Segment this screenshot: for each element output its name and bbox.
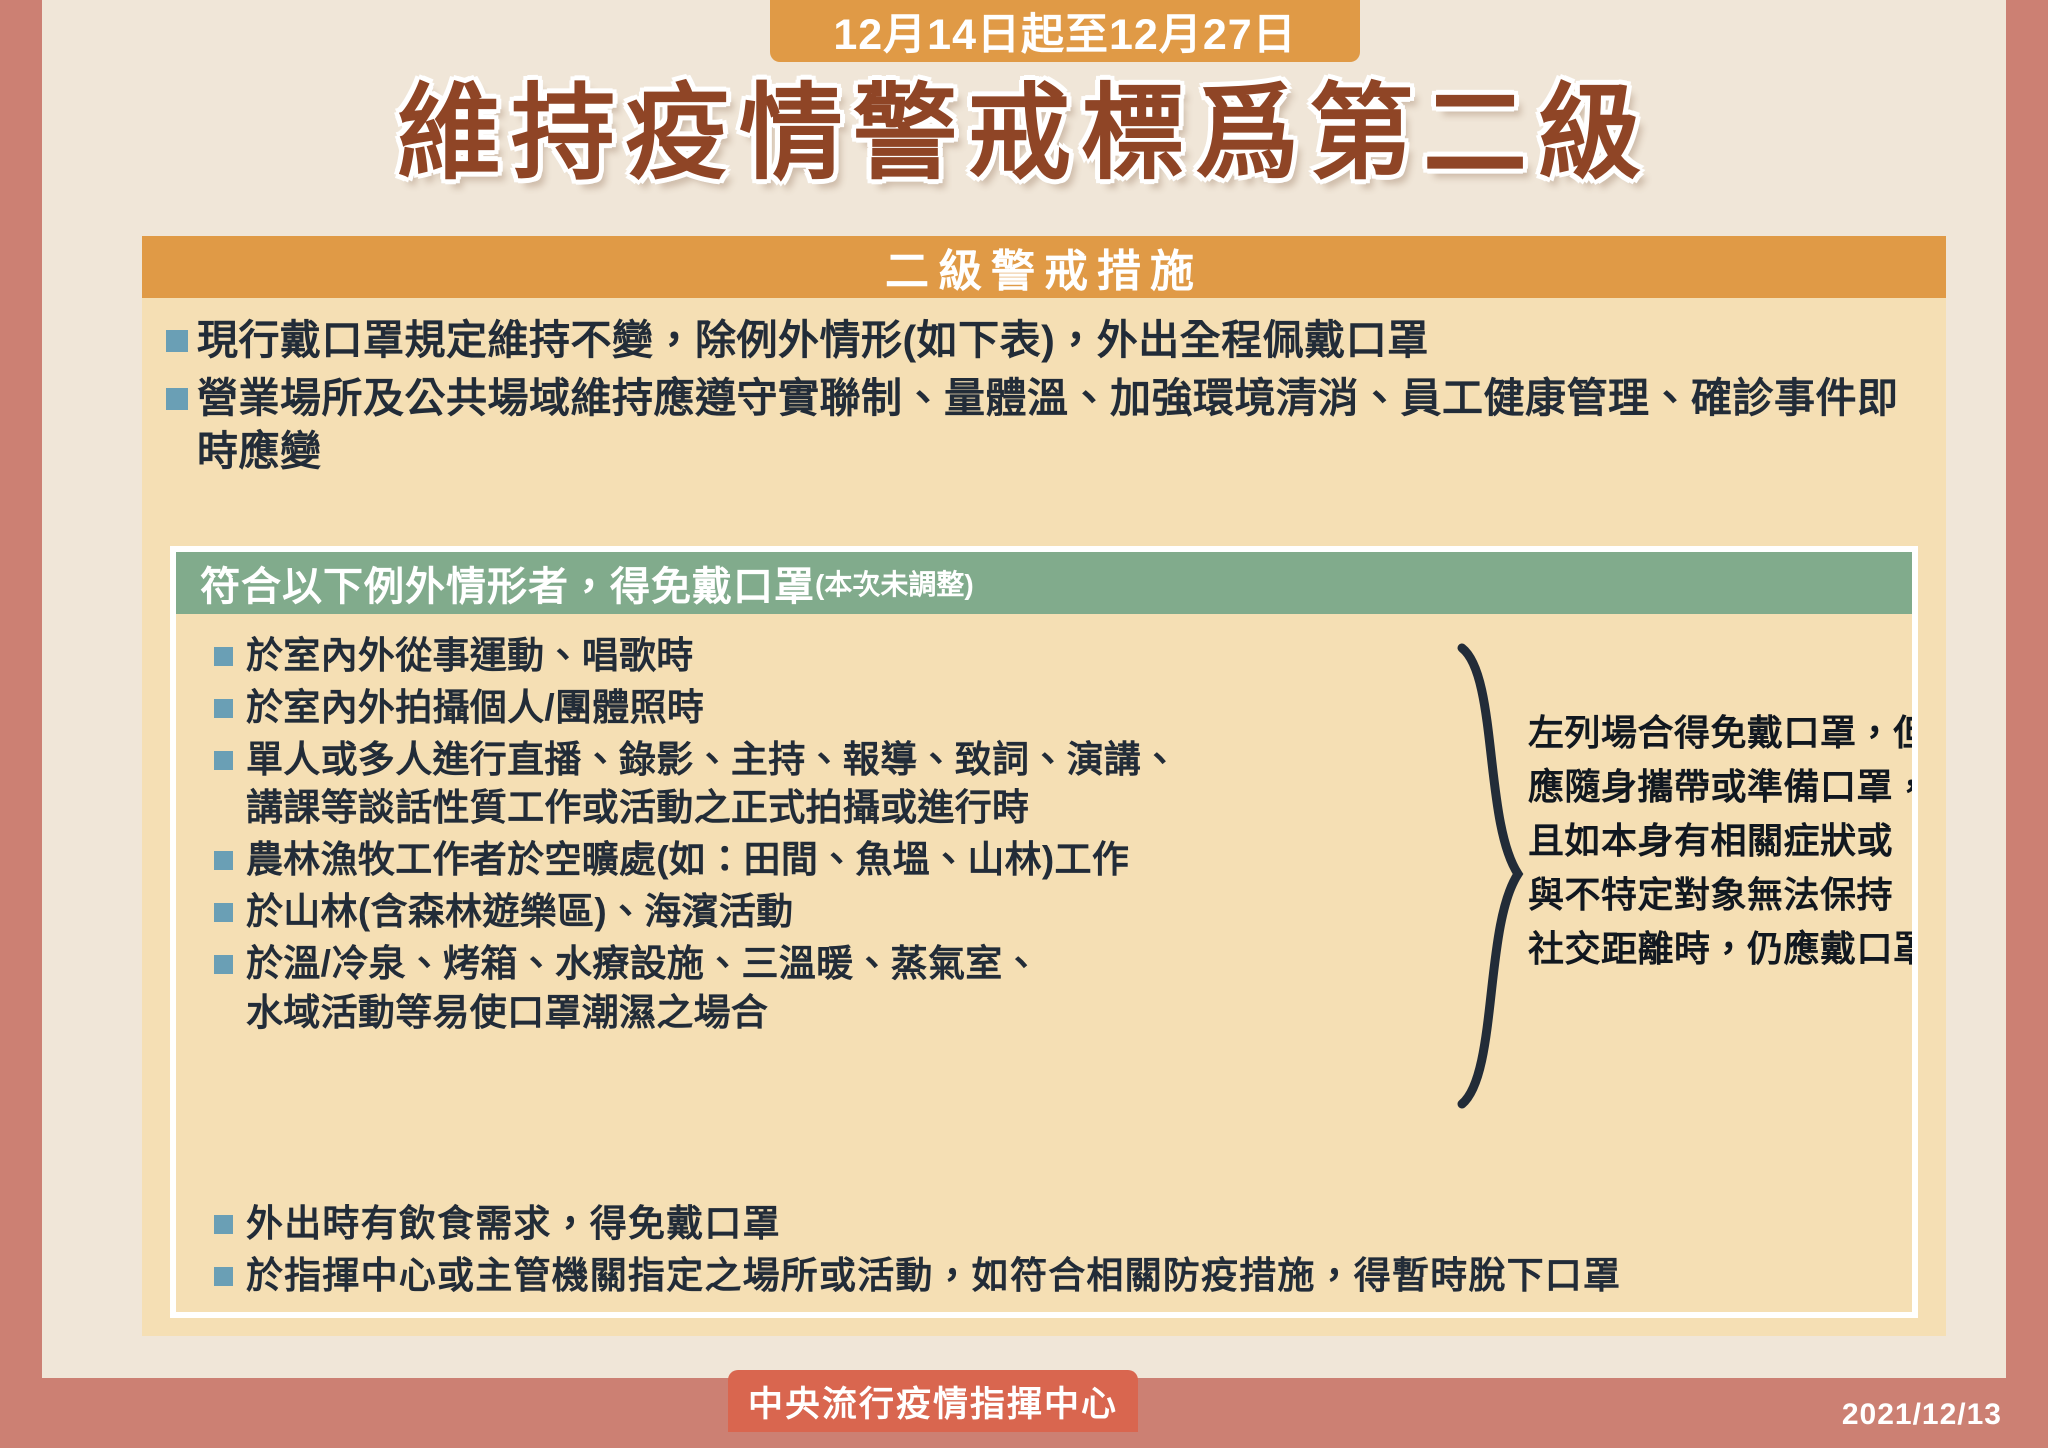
list-item: 外出時有飲食需求，得免戴口罩 xyxy=(214,1200,1912,1249)
square-bullet-icon xyxy=(214,1215,233,1234)
section-header-level2-measures: 二級警戒措施 xyxy=(142,236,1946,298)
exception-card-body: 於室內外從事運動、唱歌時 於室內外拍攝個人/團體照時 單人或多人進行直播、錄影、… xyxy=(176,614,1912,1312)
list-item: 單人或多人進行直播、錄影、主持、報導、致詞、演講、講課等談話性質工作或活動之正式… xyxy=(214,736,1444,834)
list-item-line: 單人或多人進行直播、錄影、主持、報導、致詞、演講、 xyxy=(246,739,1179,780)
list-item-label: 單人或多人進行直播、錄影、主持、報導、致詞、演講、講課等談話性質工作或活動之正式… xyxy=(246,736,1179,834)
list-item-label: 於溫/冷泉、烤箱、水療設施、三溫暖、蒸氣室、水域活動等易使口罩潮濕之場合 xyxy=(246,940,1040,1038)
list-item: 於室內外拍攝個人/團體照時 xyxy=(214,684,1444,733)
list-item-line: 水域活動等易使口罩潮濕之場合 xyxy=(246,992,768,1033)
square-bullet-icon xyxy=(214,903,233,922)
square-bullet-icon xyxy=(214,955,233,974)
exception-tail-list: 外出時有飲食需求，得免戴口罩 於指揮中心或主管機關指定之場所或活動，如符合相關防… xyxy=(214,1200,1912,1304)
note-line: 社交距離時，仍應戴口罩 xyxy=(1528,922,1912,976)
square-bullet-icon xyxy=(214,851,233,870)
square-bullet-icon xyxy=(214,647,233,666)
list-item: 營業場所及公共場域維持應遵守實聯制、量體溫、加強環境清消、員工健康管理、確診事件… xyxy=(166,372,1928,477)
footer: 中央流行疫情指揮中心 2021/12/13 xyxy=(0,1378,2048,1448)
list-item: 農林漁牧工作者於空曠處(如：田間、魚塭、山林)工作 xyxy=(214,836,1444,885)
list-item-label: 於指揮中心或主管機關指定之場所或活動，如符合相關防疫措施，得暫時脫下口罩 xyxy=(246,1252,1621,1301)
list-item: 於指揮中心或主管機關指定之場所或活動，如符合相關防疫措施，得暫時脫下口罩 xyxy=(214,1252,1912,1301)
list-item-label: 於室內外從事運動、唱歌時 xyxy=(246,632,694,681)
note-line: 應隨身攜帶或準備口罩， xyxy=(1528,760,1912,814)
list-item-label: 農林漁牧工作者於空曠處(如：田間、魚塭、山林)工作 xyxy=(246,836,1129,885)
exception-header-main: 符合以下例外情形者，得免戴口罩 xyxy=(200,554,815,612)
list-item-label: 營業場所及公共場域維持應遵守實聯制、量體溫、加強環境清消、員工健康管理、確診事件… xyxy=(197,372,1928,477)
date-range-banner: 12月14日起至12月27日 xyxy=(770,0,1360,62)
page-title-text: 維持疫情警戒標爲第二級 xyxy=(397,48,1651,199)
list-item-line: 講課等談話性質工作或活動之正式拍攝或進行時 xyxy=(246,787,1029,828)
exception-note: 左列場合得免戴口罩，但 應隨身攜帶或準備口罩， 且如本身有相關症狀或 與不特定對… xyxy=(1528,706,1912,976)
page-title: 維持疫情警戒標爲第二級 xyxy=(42,62,2006,184)
exception-card-header: 符合以下例外情形者，得免戴口罩 (本次未調整) xyxy=(176,552,1912,614)
list-item-label: 於山林(含森林遊樂區)、海濱活動 xyxy=(246,888,793,937)
list-item: 於溫/冷泉、烤箱、水療設施、三溫暖、蒸氣室、水域活動等易使口罩潮濕之場合 xyxy=(214,940,1444,1038)
body-panel: 現行戴口罩規定維持不變，除例外情形(如下表)，外出全程佩戴口罩 營業場所及公共場… xyxy=(142,298,1946,1336)
footer-date: 2021/12/13 xyxy=(1842,1398,2002,1432)
list-item-line: 於溫/冷泉、烤箱、水療設施、三溫暖、蒸氣室、 xyxy=(246,943,1040,984)
note-line: 且如本身有相關症狀或 xyxy=(1528,814,1912,868)
infographic-poster: 12月14日起至12月27日 維持疫情警戒標爲第二級 二級警戒措施 現行戴口罩規… xyxy=(0,0,2048,1448)
top-bullet-list: 現行戴口罩規定維持不變，除例外情形(如下表)，外出全程佩戴口罩 營業場所及公共場… xyxy=(142,298,1946,477)
note-line: 左列場合得免戴口罩，但 xyxy=(1528,706,1912,760)
list-item: 於室內外從事運動、唱歌時 xyxy=(214,632,1444,681)
list-item-label: 於室內外拍攝個人/團體照時 xyxy=(246,684,704,733)
list-item-label: 外出時有飲食需求，得免戴口罩 xyxy=(246,1200,781,1249)
square-bullet-icon xyxy=(214,699,233,718)
organization-tag: 中央流行疫情指揮中心 xyxy=(728,1370,1138,1432)
exception-header-sub: (本次未調整) xyxy=(815,563,974,603)
list-item: 於山林(含森林遊樂區)、海濱活動 xyxy=(214,888,1444,937)
note-line: 與不特定對象無法保持 xyxy=(1528,868,1912,922)
list-item: 現行戴口罩規定維持不變，除例外情形(如下表)，外出全程佩戴口罩 xyxy=(166,314,1928,366)
square-bullet-icon xyxy=(166,330,188,352)
curly-brace-icon xyxy=(1456,642,1526,1112)
exception-bullet-list: 於室內外從事運動、唱歌時 於室內外拍攝個人/團體照時 單人或多人進行直播、錄影、… xyxy=(214,632,1444,1041)
poster-page: 12月14日起至12月27日 維持疫情警戒標爲第二級 二級警戒措施 現行戴口罩規… xyxy=(42,0,2006,1378)
list-item-label: 現行戴口罩規定維持不變，除例外情形(如下表)，外出全程佩戴口罩 xyxy=(197,314,1429,366)
square-bullet-icon xyxy=(214,751,233,770)
square-bullet-icon xyxy=(166,388,188,410)
exception-card: 符合以下例外情形者，得免戴口罩 (本次未調整) 於室內外從事運動、唱歌時 於室內… xyxy=(170,546,1918,1318)
square-bullet-icon xyxy=(214,1267,233,1286)
